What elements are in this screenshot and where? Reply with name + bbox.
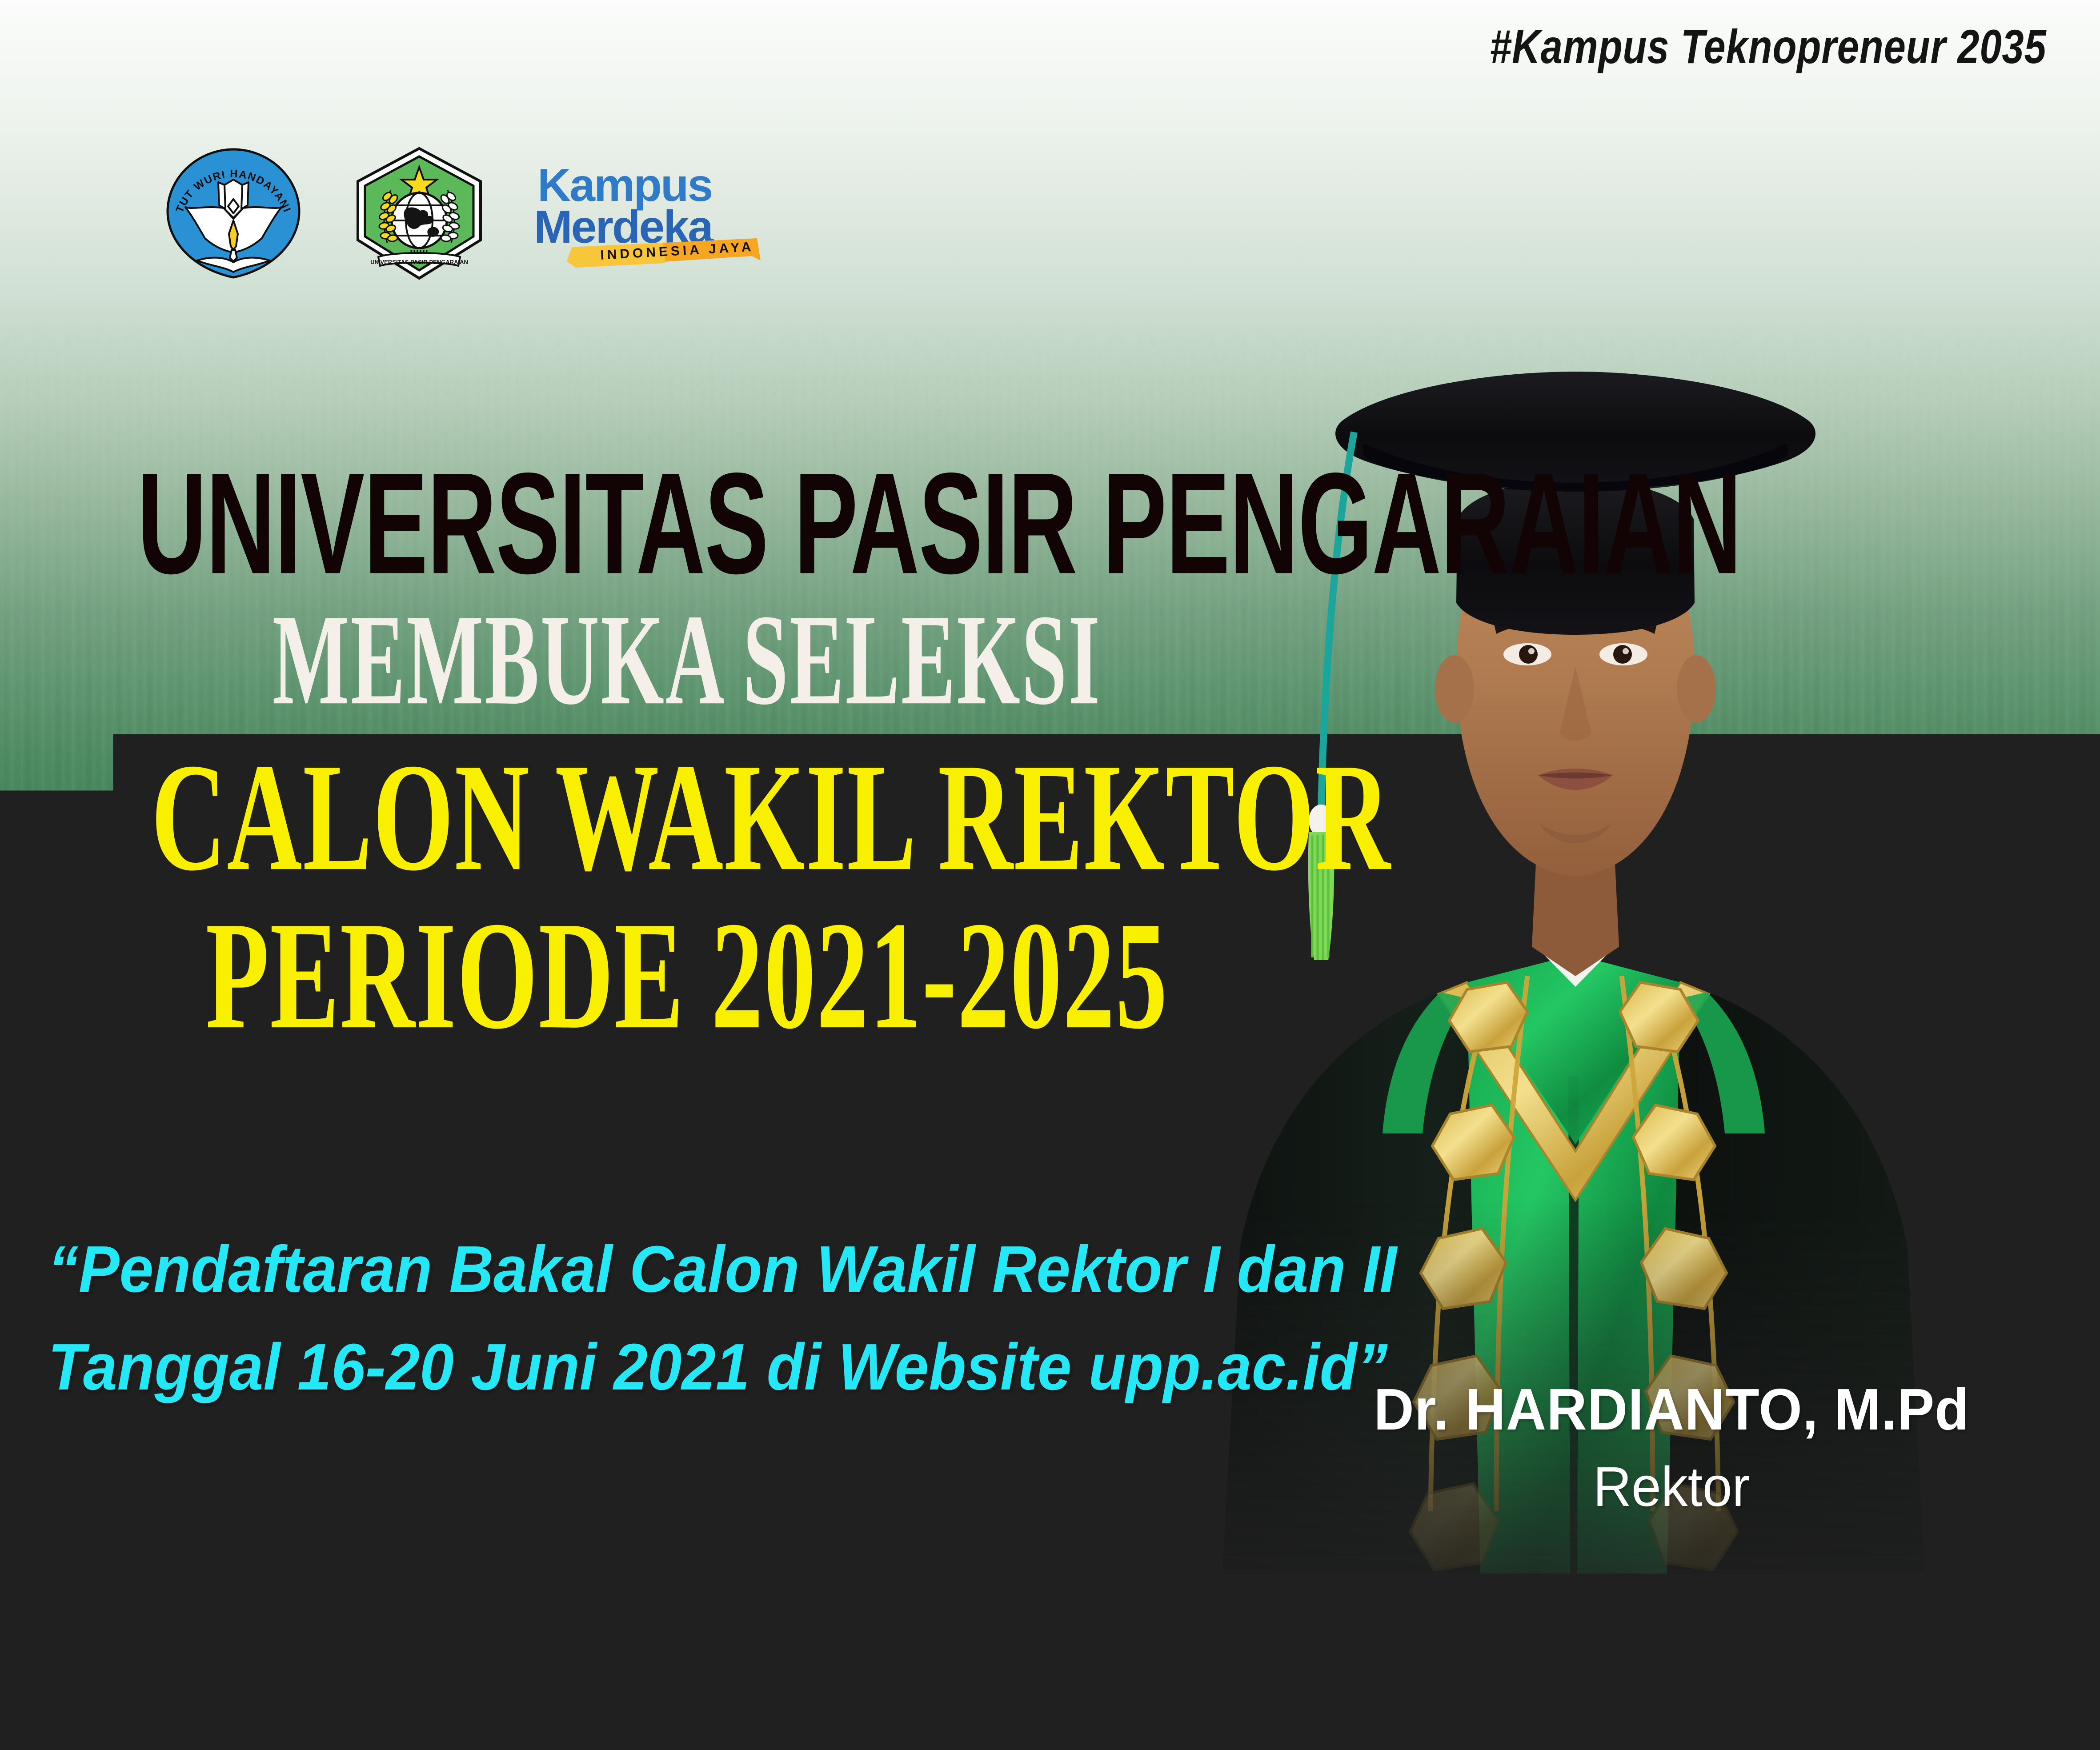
campaign-hashtag: #Kampus Teknopreneur 2035 (1490, 19, 2047, 74)
logo-row: TUT WURI HANDAYANI (158, 147, 778, 280)
facebook-icon (1809, 1618, 1884, 1711)
globe-icon (1389, 1618, 1465, 1711)
headline-period: PERIODE 2021-2025 (151, 898, 1222, 1053)
contact-whatsapp[interactable]: 0813 7188 6280 (783, 1618, 1341, 1711)
whatsapp-icon (783, 1618, 863, 1711)
headline-block: UNIVERSITAS PASIR PENGARAIAN MEMBUKA SEL… (0, 458, 1374, 1031)
contact-phone[interactable]: 0762 7393250 (231, 1618, 735, 1711)
rector-name: Dr. HARDIANTO, M.Pd (1351, 1376, 1992, 1443)
headline-position: CALON WAKIL REKTOR (151, 740, 1222, 894)
contact-footer: 0762 7393250 0813 7188 6280 upp.ac.id (231, 1618, 2100, 1711)
contact-facebook-label: BPMPH UPP (1900, 1628, 2100, 1701)
universitas-pasir-pengaraian-seal: UNIVERSITAS PASIR PENGARAIAN (344, 147, 495, 280)
tut-wuri-handayani-logo: TUT WURI HANDAYANI (158, 147, 309, 280)
poster-canvas: #Kampus Teknopreneur 2035 TUT WURI HANDA… (0, 0, 2100, 1750)
contact-facebook[interactable]: BPMPH UPP (1809, 1618, 2100, 1711)
svg-text:UNIVERSITAS PASIR PENGARAIAN: UNIVERSITAS PASIR PENGARAIAN (370, 259, 468, 265)
kampus-merdeka-logo: Kampus Merdeka INDONESIA JAYA (529, 151, 778, 276)
registration-note: “Pendaftaran Bakal Calon Wakil Rektor I … (48, 1227, 1426, 1410)
telephone-icon (231, 1618, 311, 1711)
footer-divider (0, 1579, 2100, 1590)
headline-university: UNIVERSITAS PASIR PENGARAIAN (137, 458, 1236, 590)
contact-website-label: upp.ac.id (1480, 1628, 1727, 1701)
contact-whatsapp-label: 0813 7188 6280 (878, 1628, 1286, 1701)
registration-note-line-1: “Pendaftaran Bakal Calon Wakil Rektor I … (48, 1227, 1330, 1312)
rector-signature-block: Dr. HARDIANTO, M.Pd Rektor (1334, 1376, 2009, 1519)
contact-website[interactable]: upp.ac.id (1389, 1618, 1761, 1711)
rector-role: Rektor (1351, 1454, 1992, 1519)
registration-note-line-2: Tanggal 16-20 Juni 2021 di Website upp.a… (48, 1325, 1330, 1410)
contact-phone-label: 0762 7393250 (326, 1628, 686, 1701)
headline-action: MEMBUKA SELEKSI (179, 595, 1195, 725)
